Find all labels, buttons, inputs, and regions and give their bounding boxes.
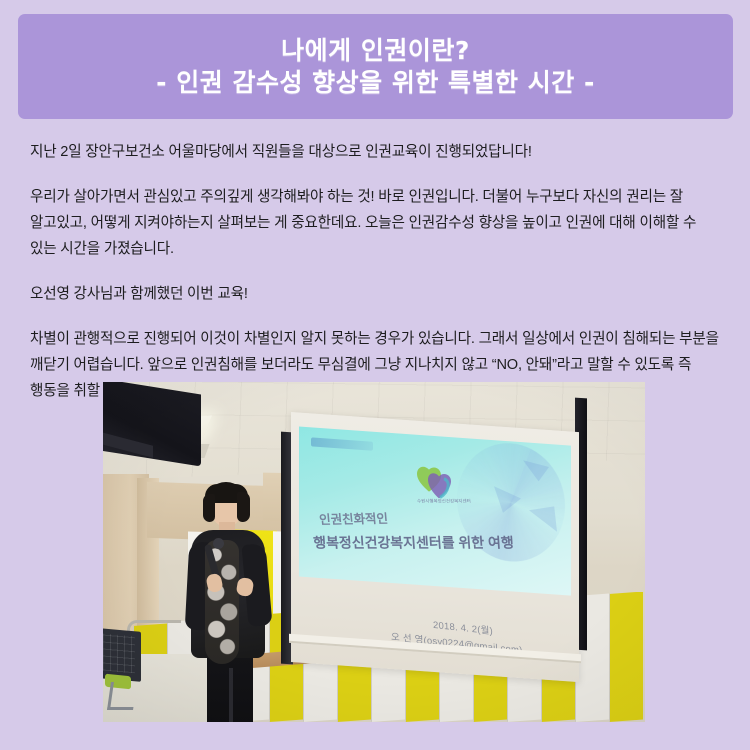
paragraph-2: 우리가 살아가면서 관심있고 주의깊게 생각해봐야 하는 것! 바로 인권입니다… [30,185,722,263]
article-body: 지난 2일 장안구보건소 어울마당에서 직원들을 대상으로 인권교육이 진행되었… [30,140,722,405]
slide-title-main: 행복정신건강복지센터를 위한 여행 [313,533,515,553]
paragraph-1: 지난 2일 장안구보건소 어울마당에서 직원들을 대상으로 인권교육이 진행되었… [30,140,722,166]
projected-slide: 수원시행복정신건강복지센터 인권친화적인 행복정신건강복지센터를 위한 여행 [299,427,571,596]
slide-subnote: 수원시행복정신건강복지센터 [417,499,471,505]
wall-stripe [609,592,643,722]
slide-organization-logo-icon [311,437,373,450]
slide-title-top: 인권친화적인 [318,508,388,528]
speaker-hair-right [237,492,250,522]
lecture-photo: 수원시행복정신건강복지센터 인권친화적인 행복정신건강복지센터를 위한 여행 2… [103,382,645,722]
photo-scene: 수원시행복정신건강복지센터 인권친화적인 행복정신건강복지센터를 위한 여행 2… [103,382,645,722]
header-title-line-1: 나에게 인권이란? [281,36,470,66]
speaker-person [169,482,281,722]
chair-mesh [103,634,135,674]
header-title-line-2: - 인권 감수성 향상을 위한 특별한 시간 - [156,68,595,98]
chair-leg [107,682,137,710]
microphone-head [213,538,224,549]
paragraph-3: 오선영 강사님과 함께했던 이번 교육! [30,282,722,308]
speaker-leg-split [229,668,233,722]
speaker-hair-left [203,494,215,522]
header-banner: 나에게 인권이란? - 인권 감수성 향상을 위한 특별한 시간 - [18,14,733,119]
